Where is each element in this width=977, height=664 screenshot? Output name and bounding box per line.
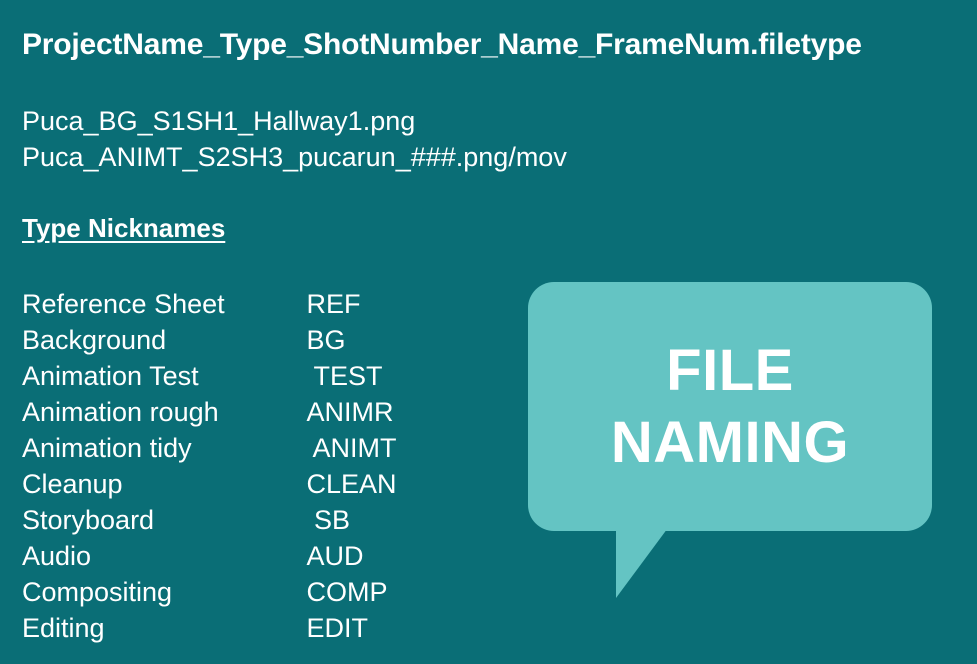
nickname-type-label: Background — [22, 322, 299, 358]
callout-line-2: NAMING — [611, 407, 849, 479]
nickname-type-label: Audio — [22, 538, 299, 574]
type-nicknames-table: Reference Sheet REF Background BG Animat… — [22, 286, 397, 646]
table-row: Editing EDIT — [22, 610, 397, 646]
nickname-code-label: EDIT — [307, 610, 369, 646]
table-row: Storyboard SB — [22, 502, 397, 538]
type-nicknames-heading: Type Nicknames — [22, 213, 225, 244]
nickname-type-label: Compositing — [22, 574, 299, 610]
table-row: Background BG — [22, 322, 397, 358]
table-row: Animation tidy ANIMT — [22, 430, 397, 466]
example-filename-1: Puca_BG_S1SH1_Hallway1.png — [22, 103, 567, 139]
table-row: Animation Test TEST — [22, 358, 397, 394]
nickname-type-label: Storyboard — [22, 502, 299, 538]
slide-canvas: ProjectName_Type_ShotNumber_Name_FrameNu… — [0, 0, 977, 664]
example-filenames: Puca_BG_S1SH1_Hallway1.png Puca_ANIMT_S2… — [22, 103, 567, 175]
nickname-code-label: COMP — [307, 574, 388, 610]
speech-bubble-callout: FILE NAMING — [528, 282, 932, 598]
file-naming-pattern-title: ProjectName_Type_ShotNumber_Name_FrameNu… — [22, 28, 862, 62]
nickname-code-label: SB — [307, 502, 351, 538]
speech-bubble-text: FILE NAMING — [528, 282, 932, 531]
example-filename-2: Puca_ANIMT_S2SH3_pucarun_###.png/mov — [22, 139, 567, 175]
table-row: Reference Sheet REF — [22, 286, 397, 322]
table-row: Animation rough ANIMR — [22, 394, 397, 430]
nickname-type-label: Animation rough — [22, 394, 299, 430]
nickname-type-label: Animation tidy — [22, 430, 299, 466]
callout-line-1: FILE — [666, 335, 794, 407]
table-row: Compositing COMP — [22, 574, 397, 610]
nickname-code-label: REF — [307, 286, 361, 322]
nickname-type-label: Cleanup — [22, 466, 299, 502]
table-row: Audio AUD — [22, 538, 397, 574]
nickname-code-label: ANIMR — [307, 394, 394, 430]
table-row: Cleanup CLEAN — [22, 466, 397, 502]
nickname-type-label: Animation Test — [22, 358, 299, 394]
nickname-type-label: Editing — [22, 610, 299, 646]
nickname-code-label: AUD — [307, 538, 364, 574]
nickname-code-label: CLEAN — [307, 466, 397, 502]
nickname-code-label: TEST — [307, 358, 383, 394]
nickname-type-label: Reference Sheet — [22, 286, 299, 322]
nickname-code-label: BG — [307, 322, 346, 358]
nickname-code-label: ANIMT — [307, 430, 397, 466]
